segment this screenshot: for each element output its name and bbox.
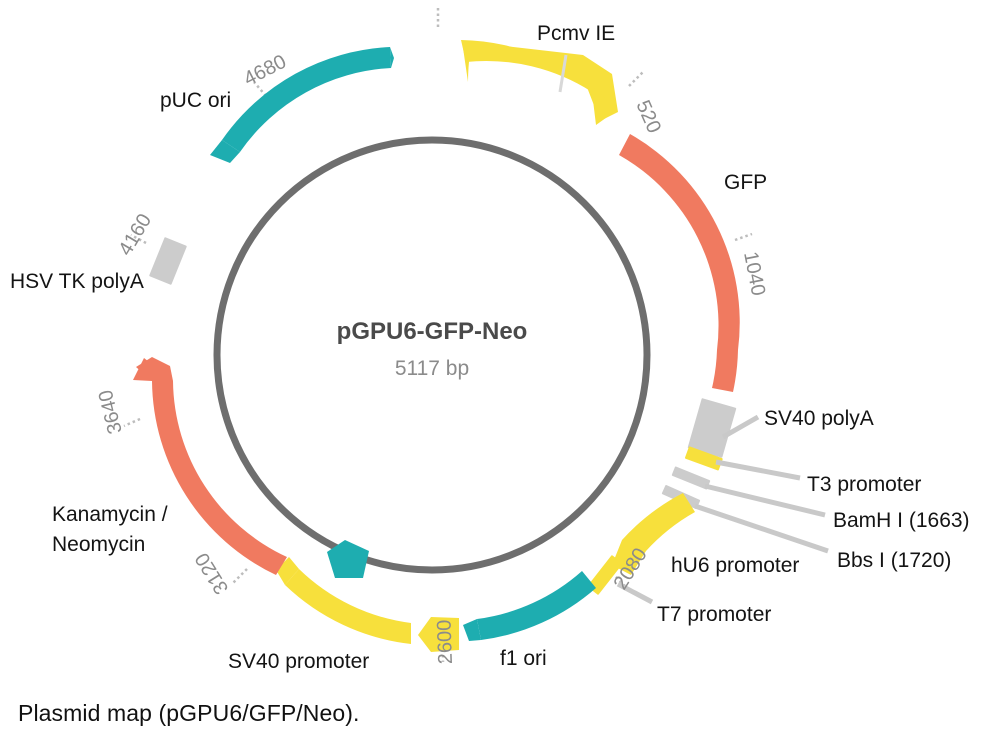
plasmid-size: 5117 bp <box>395 357 469 380</box>
restriction-site-bamhi[interactable] <box>672 466 711 490</box>
label-kanamycin-neomycin-line2: Neomycin <box>52 533 145 556</box>
plasmid-map-figure: Pcmv IE GFP SV40 polyA T3 promoter BamH … <box>0 0 982 744</box>
feature-puc-ori-band <box>222 47 391 152</box>
label-kanamycin-neomycin-line1: Kanamycin / <box>52 503 168 526</box>
feature-kanamycin-neomycin[interactable] <box>133 357 287 575</box>
feature-gfp-band <box>619 134 740 350</box>
feature-sv40-promoter-band <box>285 569 411 644</box>
tick-label-1040: 1040 <box>739 250 769 298</box>
tick-mark-1040 <box>735 234 752 240</box>
label-t3-promoter: T3 promoter <box>807 473 921 496</box>
tick-label-4160: 4160 <box>114 210 156 259</box>
label-hsv-tk-polya: HSV TK polyA <box>10 270 144 293</box>
label-puc-ori: pUC ori <box>160 89 231 112</box>
restriction-site-bamhi-tick <box>672 466 711 490</box>
label-bbsi: Bbs I (1720) <box>837 549 951 572</box>
label-sv40-polya: SV40 polyA <box>764 407 874 430</box>
feature-gfp[interactable] <box>619 134 740 392</box>
tick-label-2600: 2600 <box>433 619 457 664</box>
label-sv40-promoter: SV40 promoter <box>228 650 369 673</box>
tick-label-520: 520 <box>631 97 665 136</box>
tick-mark-3640 <box>124 419 140 426</box>
leader-line-t3-promoter <box>716 462 800 478</box>
label-f1-ori: f1 ori <box>500 647 547 670</box>
figure-caption: Plasmid map (pGPU6/GFP/Neo). <box>18 700 360 727</box>
tick-mark-520 <box>629 71 644 86</box>
feature-hsv-tk-polya[interactable] <box>149 237 187 285</box>
label-hu6-promoter: hU6 promoter <box>671 554 799 577</box>
feature-hsv-tk-polya-box <box>149 237 187 285</box>
feature-kanamycin-neomycin-band <box>152 381 287 575</box>
feature-pcmv-ie[interactable] <box>461 40 618 125</box>
plasmid-name: pGPU6-GFP-Neo <box>337 318 528 345</box>
feature-f1-ori-band <box>477 571 596 640</box>
label-gfp: GFP <box>724 171 767 194</box>
tick-label-3640: 3640 <box>95 388 127 437</box>
label-bamhi: BamH I (1663) <box>833 509 970 532</box>
feature-puc-ori[interactable] <box>210 47 394 163</box>
tick-label-3120: 3120 <box>191 549 233 598</box>
plasmid-map-canvas: Pcmv IE GFP SV40 polyA T3 promoter BamH … <box>0 0 982 744</box>
label-t7-promoter: T7 promoter <box>657 603 771 626</box>
label-pcmv-ie: Pcmv IE <box>537 22 615 45</box>
tick-mark-3120 <box>233 569 247 583</box>
feature-f1-ori[interactable] <box>463 571 596 641</box>
plasmid-backbone-circle <box>217 140 647 570</box>
feature-gfp-band-tail <box>712 350 738 392</box>
